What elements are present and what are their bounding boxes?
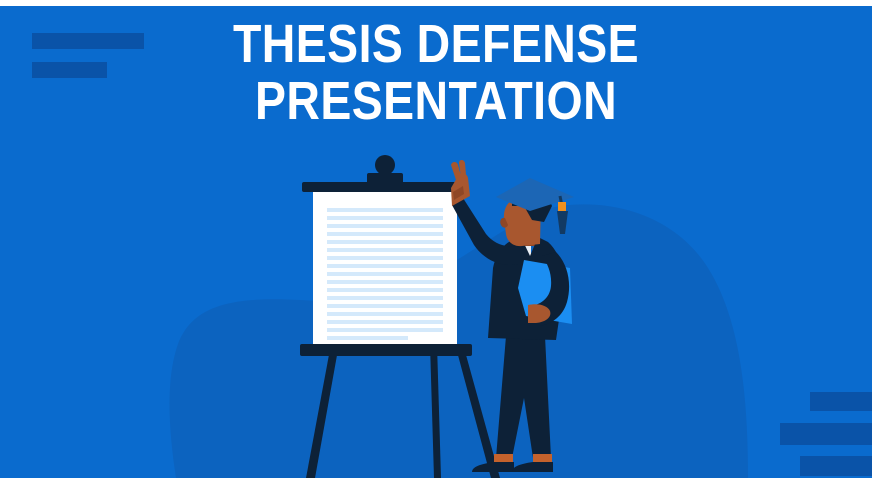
- deco-bar-short: [810, 392, 872, 411]
- deco-bar-long: [32, 33, 144, 49]
- deco-bar-medium: [800, 456, 872, 476]
- slide-background: [0, 6, 872, 478]
- deco-bar-short: [32, 62, 107, 78]
- decoration-bottom-right: [780, 392, 872, 476]
- slide-canvas: THESIS DEFENSE PRESENTATION: [0, 0, 872, 478]
- decoration-top-left: [32, 33, 144, 78]
- decorative-bars-layer: [0, 6, 872, 478]
- deco-bar-long: [780, 423, 872, 445]
